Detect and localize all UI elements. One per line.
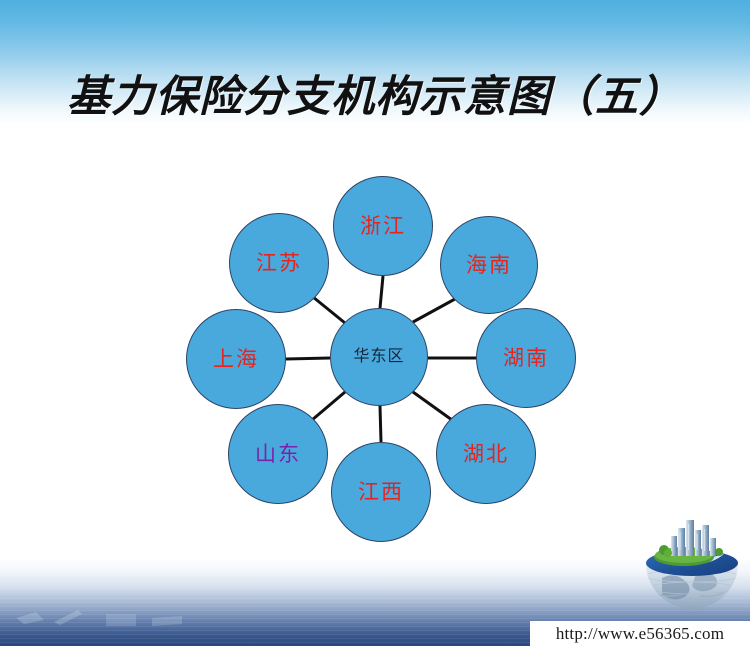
node-jiangsu[interactable]: 江苏 [229, 213, 329, 313]
edge-hub-hubei [413, 392, 452, 420]
node-hub-label: 华东区 [353, 349, 404, 365]
node-hainan[interactable]: 海南 [440, 216, 538, 314]
edge-hub-zhejiang [380, 276, 383, 308]
node-zhejiang[interactable]: 浙江 [333, 176, 433, 276]
node-jiangxi-label: 江西 [358, 482, 404, 503]
node-shandong[interactable]: 山东 [228, 404, 328, 504]
edge-hub-jiangxi [380, 406, 381, 442]
node-hainan-label: 海南 [466, 255, 512, 276]
edge-hub-shanghai [286, 358, 330, 359]
website-url-plate: http://www.e56365.com [530, 621, 750, 646]
slide-canvas: 基力保险分支机构示意图（五） 浙江 海南 湖南 湖北 [0, 0, 750, 646]
node-hunan[interactable]: 湖南 [476, 308, 576, 408]
edge-hub-jiangsu [313, 297, 345, 323]
node-jiangsu-label: 江苏 [256, 253, 302, 274]
edge-hub-shandong [312, 392, 345, 420]
node-hubei[interactable]: 湖北 [436, 404, 536, 504]
node-hunan-label: 湖南 [503, 348, 549, 369]
globe-city-logo [640, 516, 744, 616]
node-shandong-label: 山东 [255, 444, 301, 465]
node-shanghai-label: 上海 [213, 349, 259, 370]
org-structure-diagram: 浙江 海南 湖南 湖北 江西 山东 上海 江苏 华东区 [0, 0, 750, 646]
node-hubei-label: 湖北 [463, 444, 509, 465]
edge-hub-hainan [413, 299, 455, 322]
node-hub-east-china[interactable]: 华东区 [330, 308, 428, 406]
node-shanghai[interactable]: 上海 [186, 309, 286, 409]
node-zhejiang-label: 浙江 [360, 216, 406, 237]
node-jiangxi[interactable]: 江西 [331, 442, 431, 542]
website-url-text: http://www.e56365.com [556, 624, 724, 644]
